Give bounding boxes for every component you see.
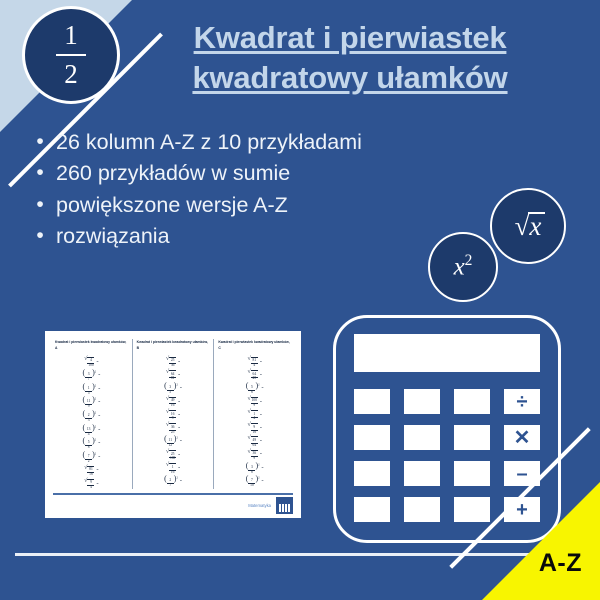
worksheet-expression: √814= xyxy=(248,357,262,368)
worksheet-expression: √3625= xyxy=(166,423,180,434)
fraction-bar xyxy=(56,54,86,56)
worksheet-column-a: Kwadrat i pierwiastek kwadratowy ułamków… xyxy=(51,339,132,489)
equals-sign: = xyxy=(260,414,262,418)
radical-expression: √169 xyxy=(166,410,176,421)
mini-fraction-denominator: 3 xyxy=(88,419,90,423)
radical-expression: √8116 xyxy=(84,466,94,477)
equals-sign: = xyxy=(260,374,262,378)
list-item-label: 26 kolumn A-Z z 10 przykładami xyxy=(56,128,369,156)
list-item: • rozwiązania xyxy=(24,222,369,250)
worksheet-footer: Matematyka xyxy=(51,497,295,514)
worksheet-expression: (23)2= xyxy=(82,411,100,422)
worksheet-expression: √369= xyxy=(248,450,262,461)
equals-sign: = xyxy=(180,387,182,391)
bullet-dot-icon: • xyxy=(24,128,56,156)
worksheet-expression: √6481= xyxy=(166,370,180,381)
equals-sign: = xyxy=(178,361,180,365)
calculator-key-blank[interactable] xyxy=(354,389,390,414)
worksheet-expression: √4100= xyxy=(84,357,98,368)
worksheet-expression: √1009= xyxy=(248,397,262,408)
bullet-dot-icon: • xyxy=(24,222,56,250)
radical-expression: √116 xyxy=(166,463,176,474)
calculator-key-blank[interactable] xyxy=(404,461,440,486)
mini-fraction-denominator: 5 xyxy=(88,392,90,396)
mini-fraction-denominator: 9 xyxy=(172,417,174,421)
equals-sign: = xyxy=(262,387,264,391)
calculator-key-blank[interactable] xyxy=(454,389,490,414)
radical-expression: √4964 xyxy=(248,436,258,447)
squared-expression: (27)2 xyxy=(164,476,178,487)
worksheet-items: √2536=√6481=(35)2=√4916=√169=√3625=(1112… xyxy=(137,357,210,488)
calculator-key-divide[interactable]: ÷ xyxy=(504,389,540,414)
equals-sign: = xyxy=(98,429,100,433)
worksheet-expression: (119)2= xyxy=(82,397,100,408)
equals-sign: = xyxy=(260,427,262,431)
mini-fraction-denominator: 12 xyxy=(168,444,172,448)
squared-expression: (1112)2 xyxy=(164,436,178,447)
mini-fraction: 6425 xyxy=(251,373,258,381)
poster-canvas: 1 2 Kwadrat i pierwiastek kwadratowy uła… xyxy=(0,0,600,600)
worksheet-column-c: Kwadrat i pierwiastek kwadratowy ułamków… xyxy=(213,339,295,489)
mini-fraction-denominator: 7 xyxy=(88,378,90,382)
equals-sign: = xyxy=(178,414,180,418)
equals-sign: = xyxy=(260,401,262,405)
calculator-key-blank[interactable] xyxy=(404,425,440,450)
worksheet-expression: √8116= xyxy=(84,466,98,477)
bullet-dot-icon: • xyxy=(24,159,56,187)
squared-expression: (134)2 xyxy=(82,425,96,436)
list-item: • powiększone wersje A-Z xyxy=(24,191,369,219)
mini-fraction-denominator: 8 xyxy=(88,446,90,450)
equals-sign: = xyxy=(178,401,180,405)
calculator-key-blank[interactable] xyxy=(454,425,490,450)
mini-fraction-denominator: 36 xyxy=(171,364,175,368)
worksheet-expression: √4916= xyxy=(166,397,180,408)
equals-sign: = xyxy=(98,374,100,378)
worksheet-expression: √4964= xyxy=(248,436,262,447)
radical-expression: √3625 xyxy=(166,423,176,434)
equals-sign: = xyxy=(98,456,100,460)
x-squared-badge: x2 xyxy=(428,232,498,302)
calculator-key-blank[interactable] xyxy=(354,461,390,486)
mini-fraction: 369 xyxy=(251,452,258,460)
mini-fraction: 3625 xyxy=(169,426,176,434)
worksheet-expression: (15)2= xyxy=(82,384,100,395)
fraction-numerator: 1 xyxy=(64,22,78,51)
sqrt-badge-label: √x xyxy=(515,211,542,241)
radical-expression: √369 xyxy=(248,450,258,461)
mini-fraction: 169 xyxy=(169,413,176,421)
equals-sign: = xyxy=(178,427,180,431)
worksheet-column-header: Kwadrat i pierwiastek kwadratowy ułamków… xyxy=(218,339,291,352)
radical-expression: √1009 xyxy=(248,397,258,408)
equals-sign: = xyxy=(178,454,180,458)
mini-fraction: 814 xyxy=(251,359,258,367)
list-item-label: rozwiązania xyxy=(56,222,369,250)
az-range-badge: A-Z xyxy=(539,549,582,578)
mini-fraction-denominator: 7 xyxy=(169,484,171,488)
x-squared-exponent: 2 xyxy=(465,252,473,269)
squared-expression: (72)2 xyxy=(82,452,96,463)
mini-fraction: 14 xyxy=(251,413,258,421)
mini-fraction-denominator: 6 xyxy=(251,391,253,395)
calculator-display xyxy=(354,334,540,372)
fraction-one-half: 1 2 xyxy=(56,22,86,88)
equals-sign: = xyxy=(98,415,100,419)
fraction-denominator: 2 xyxy=(64,59,78,88)
mini-fraction-denominator: 9 xyxy=(88,405,90,409)
mini-fraction: 27 xyxy=(167,479,174,487)
worksheet-footer-label: Matematyka xyxy=(248,503,271,508)
radical-expression: √6481 xyxy=(166,370,176,381)
equals-sign: = xyxy=(262,480,264,484)
radical-expression: √14 xyxy=(248,410,258,421)
radical-expression: √916 xyxy=(248,423,258,434)
worksheet-expression: (27)2= xyxy=(164,476,182,487)
list-item: • 26 kolumn A-Z z 10 przykładami xyxy=(24,128,369,156)
list-item-label: 260 przykładów w sumie xyxy=(56,159,369,187)
mini-fraction-denominator: 4 xyxy=(88,433,90,437)
equals-sign: = xyxy=(98,388,100,392)
bullet-dot-icon: • xyxy=(24,191,56,219)
mini-fraction: 116 xyxy=(169,466,176,474)
squared-expression: (710)2 xyxy=(246,476,260,487)
equals-sign: = xyxy=(180,440,182,444)
mini-fraction-denominator: 4 xyxy=(90,486,92,490)
worksheet-expression: (710)2= xyxy=(246,476,264,487)
mini-fraction: 25100 xyxy=(169,453,176,461)
mini-fraction: 4964 xyxy=(251,439,258,447)
squared-expression: (23)2 xyxy=(82,411,96,422)
squared-expression: (15)2 xyxy=(82,384,96,395)
mini-fraction-denominator: 16 xyxy=(253,431,257,435)
mini-fraction-denominator: 4 xyxy=(253,364,255,368)
mini-fraction: 94 xyxy=(87,481,94,489)
worksheet-divider xyxy=(53,493,293,495)
worksheet-expression: √2536= xyxy=(166,357,180,368)
worksheet-items: √4100=(37)2=(15)2=(119)2=(23)2=(134)2=(5… xyxy=(55,357,128,490)
worksheet-column-b: Kwadrat i pierwiastek kwadratowy ułamków… xyxy=(132,339,214,489)
squared-expression: (58)2 xyxy=(82,438,96,449)
worksheet-expression: (1112)2= xyxy=(164,436,182,447)
squared-expression: (119)2 xyxy=(82,397,96,408)
radical-expression: √4916 xyxy=(166,397,176,408)
worksheet-items: √814=√6425=(56)2=√1009=√14=√916=√4964=√3… xyxy=(218,357,291,488)
equals-sign: = xyxy=(96,483,98,487)
radical-vinculum xyxy=(528,212,545,214)
mini-fraction: 8116 xyxy=(87,468,94,476)
worksheet-expression: (38)2= xyxy=(246,463,264,474)
worksheet-expression: (56)2= xyxy=(246,383,264,394)
squared-expression: (35)2 xyxy=(164,383,178,394)
worksheet-expression: √916= xyxy=(248,423,262,434)
calculator-key-blank[interactable] xyxy=(404,389,440,414)
mini-fraction-denominator: 9 xyxy=(253,404,255,408)
worksheet-expression: (37)2= xyxy=(82,370,100,381)
title-line-2: kwadratowy ułamków xyxy=(192,58,507,98)
worksheet-expression: (72)2= xyxy=(82,452,100,463)
page-title: Kwadrat i pierwiastek kwadratowy ułamków xyxy=(150,18,550,97)
equals-sign: = xyxy=(260,361,262,365)
squared-expression: (37)2 xyxy=(82,370,96,381)
radical-expression: √814 xyxy=(248,357,258,368)
bottom-right-corner-accent xyxy=(482,482,600,600)
equals-sign: = xyxy=(96,361,98,365)
radical-expression: √4100 xyxy=(84,357,94,368)
mini-fraction-denominator: 16 xyxy=(89,473,93,477)
mini-fraction-denominator: 4 xyxy=(253,417,255,421)
mini-fraction: 2536 xyxy=(169,359,176,367)
list-item-label: powiększone wersje A-Z xyxy=(56,191,369,219)
mini-fraction: 916 xyxy=(251,426,258,434)
equals-sign: = xyxy=(98,401,100,405)
calculator-key-multiply[interactable]: ✕ xyxy=(504,425,540,450)
mini-fraction-denominator: 8 xyxy=(251,471,253,475)
radical-expression: √94 xyxy=(84,479,94,490)
sqrt-icon: √x xyxy=(515,210,542,242)
worksheet-expression: √14= xyxy=(248,410,262,421)
equals-sign: = xyxy=(260,453,262,457)
mini-fraction-denominator: 10 xyxy=(250,484,254,488)
equals-sign: = xyxy=(98,442,100,446)
equals-sign: = xyxy=(178,467,180,471)
worksheet-expression: (134)2= xyxy=(82,425,100,436)
worksheet-expression: √94= xyxy=(84,479,98,490)
mini-fraction: 6481 xyxy=(169,373,176,381)
institution-logo-icon xyxy=(276,497,293,514)
worksheet-expression: √116= xyxy=(166,463,180,474)
worksheet-expression: (58)2= xyxy=(82,438,100,449)
title-line-1: Kwadrat i pierwiastek xyxy=(194,18,507,58)
calculator-key-blank[interactable] xyxy=(354,425,390,450)
logo-columns xyxy=(279,504,290,512)
mini-fraction: 4100 xyxy=(87,359,94,367)
radical-expression: √2536 xyxy=(166,357,176,368)
radical-expression: √25100 xyxy=(166,450,176,461)
mini-fraction: 35 xyxy=(167,386,174,394)
x-squared-base: x xyxy=(454,254,465,281)
worksheet-column-header: Kwadrat i pierwiastek kwadratowy ułamków… xyxy=(55,339,128,352)
equals-sign: = xyxy=(178,374,180,378)
sqrt-x-badge: √x xyxy=(490,188,566,264)
calculator-key-blank[interactable] xyxy=(354,497,390,522)
squared-expression: (56)2 xyxy=(246,383,260,394)
worksheet-preview: Kwadrat i pierwiastek kwadratowy ułamków… xyxy=(45,331,301,518)
worksheet-expression: (35)2= xyxy=(164,383,182,394)
equals-sign: = xyxy=(180,480,182,484)
feature-list: • 26 kolumn A-Z z 10 przykładami • 260 p… xyxy=(24,128,369,254)
radical-expression: √6425 xyxy=(248,370,258,381)
mini-fraction-denominator: 100 xyxy=(170,457,175,461)
equals-sign: = xyxy=(262,467,264,471)
worksheet-expression: √6425= xyxy=(248,370,262,381)
mini-fraction: 4916 xyxy=(169,399,176,407)
equals-sign: = xyxy=(96,469,98,473)
worksheet-expression: √169= xyxy=(166,410,180,421)
mini-fraction: 1009 xyxy=(251,399,258,407)
worksheet-expression: √25100= xyxy=(166,450,180,461)
mini-fraction-denominator: 5 xyxy=(169,391,171,395)
mini-fraction: 1112 xyxy=(167,439,174,447)
worksheet-columns: Kwadrat i pierwiastek kwadratowy ułamków… xyxy=(51,339,295,489)
mini-fraction-denominator: 16 xyxy=(171,404,175,408)
list-item: • 260 przykładów w sumie xyxy=(24,159,369,187)
mini-fraction-denominator: 2 xyxy=(88,460,90,464)
worksheet-column-header: Kwadrat i pierwiastek kwadratowy ułamków… xyxy=(137,339,210,352)
squared-expression: (38)2 xyxy=(246,463,260,474)
equals-sign: = xyxy=(260,440,262,444)
mini-fraction-denominator: 64 xyxy=(253,444,257,448)
calculator-key-blank[interactable] xyxy=(404,497,440,522)
fraction-badge: 1 2 xyxy=(22,6,120,104)
x-squared-label: x2 xyxy=(454,252,473,281)
